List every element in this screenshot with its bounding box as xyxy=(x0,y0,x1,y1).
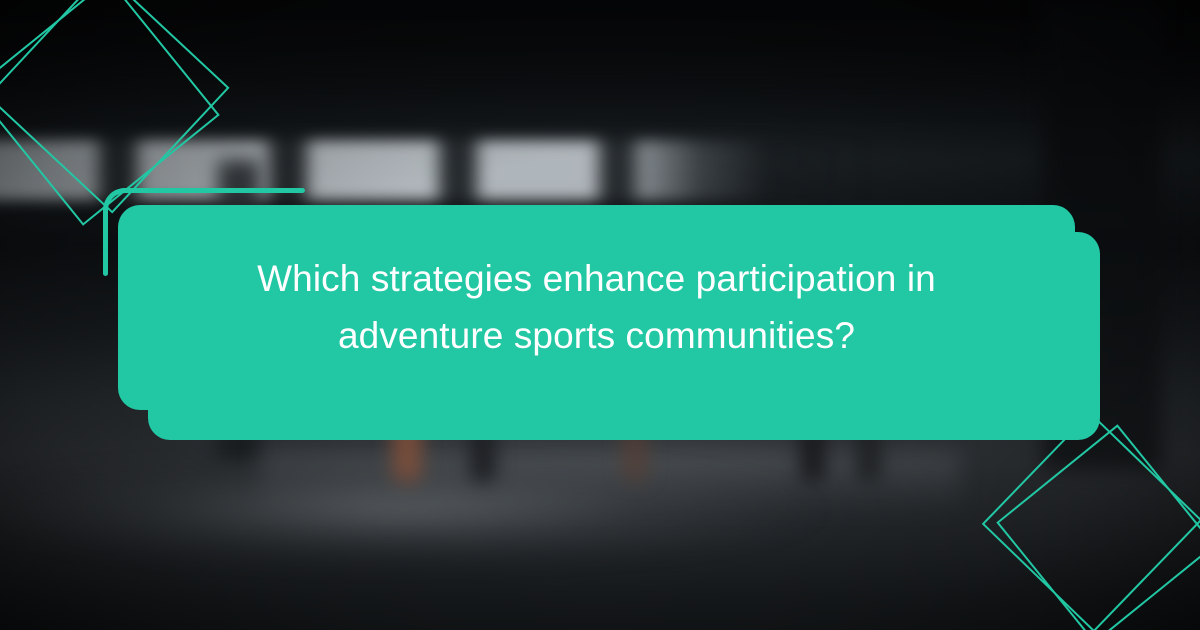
bracket-vertical-arm xyxy=(103,206,108,276)
question-card-canvas: Which strategies enhance participation i… xyxy=(0,0,1200,630)
question-card: Which strategies enhance participation i… xyxy=(118,205,1075,410)
question-text: Which strategies enhance participation i… xyxy=(147,251,1047,363)
bracket-horizontal-arm xyxy=(121,188,305,193)
